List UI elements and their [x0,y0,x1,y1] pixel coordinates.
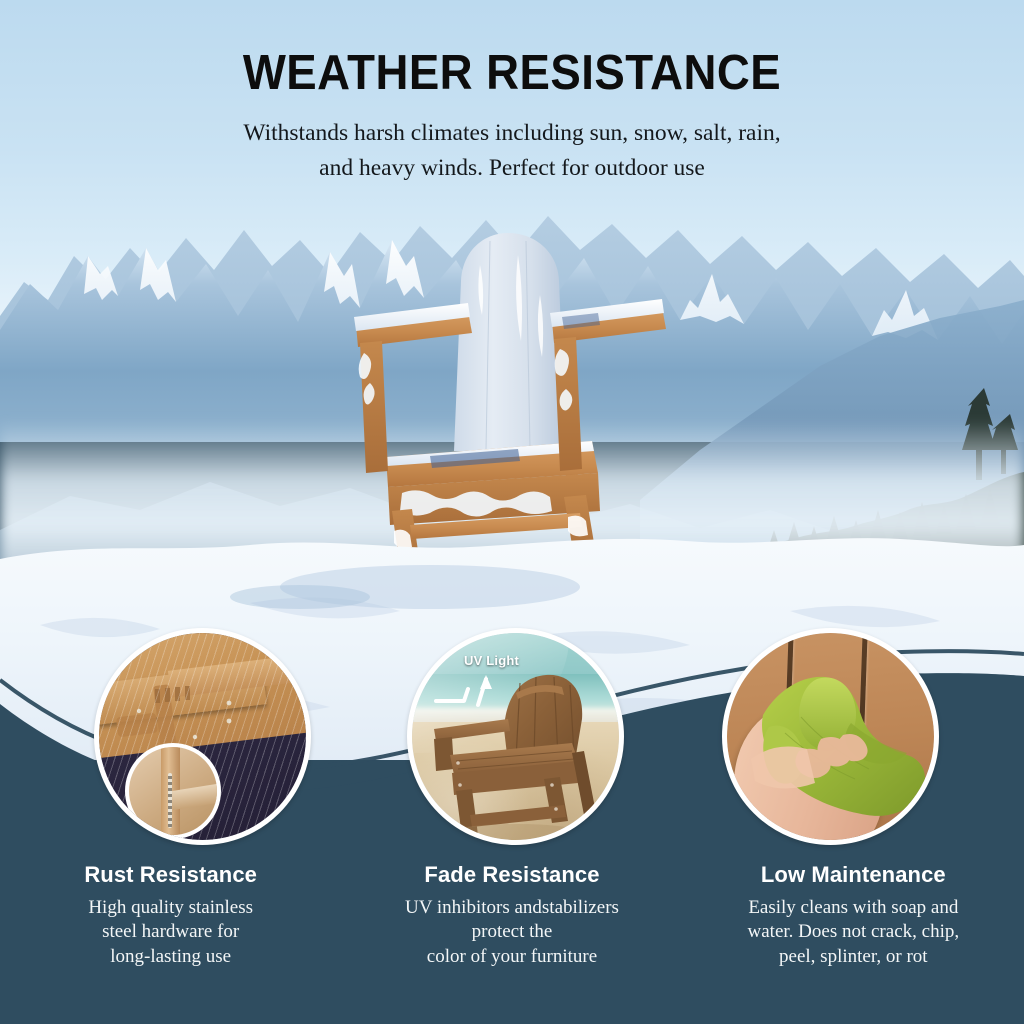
stainless-chain [168,773,172,828]
feature-image-low-maintenance[interactable] [722,628,939,845]
feature-body-line-3: long-lasting use [14,945,327,969]
feature-title-rust-resistance: Rust Resistance [14,862,327,888]
feature-body-line-3: peel, splinter, or rot [697,945,1010,969]
feature-cards: Rust Resistance High quality stainless s… [0,862,1024,969]
feature-image-rust-resistance[interactable] [94,628,311,845]
feature-card-rust-resistance: Rust Resistance High quality stainless s… [0,862,341,969]
feature-body-line-1: Easily cleans with soap and [697,896,1010,920]
feature-body-rust-resistance: High quality stainless steel hardware fo… [14,896,327,969]
fingers [727,633,934,840]
infographic-stage: WEATHER RESISTANCE Withstands harsh clim… [0,0,1024,1024]
feature-body-fade-resistance: UV inhibitors andstabilizers protect the… [355,896,668,969]
uv-light-arrow-icon [434,671,514,715]
feature-card-low-maintenance: Low Maintenance Easily cleans with soap … [683,862,1024,969]
feature-title-low-maintenance: Low Maintenance [697,862,1010,888]
feature-body-line-3: color of your furniture [355,945,668,969]
feature-body-line-1: High quality stainless [14,896,327,920]
feature-image-fade-resistance[interactable]: UV Light [407,628,624,845]
feature-title-fade-resistance: Fade Resistance [355,862,668,888]
hardware-chain-inset [125,743,221,839]
feature-card-fade-resistance: Fade Resistance UV inhibitors andstabili… [341,862,682,969]
uv-light-label: UV Light [464,653,519,668]
feature-body-line-2: steel hardware for [14,920,327,944]
feature-body-line-2: protect the [355,920,668,944]
feature-body-line-1: UV inhibitors andstabilizers [355,896,668,920]
feature-body-low-maintenance: Easily cleans with soap and water. Does … [697,896,1010,969]
feature-body-line-2: water. Does not crack, chip, [697,920,1010,944]
